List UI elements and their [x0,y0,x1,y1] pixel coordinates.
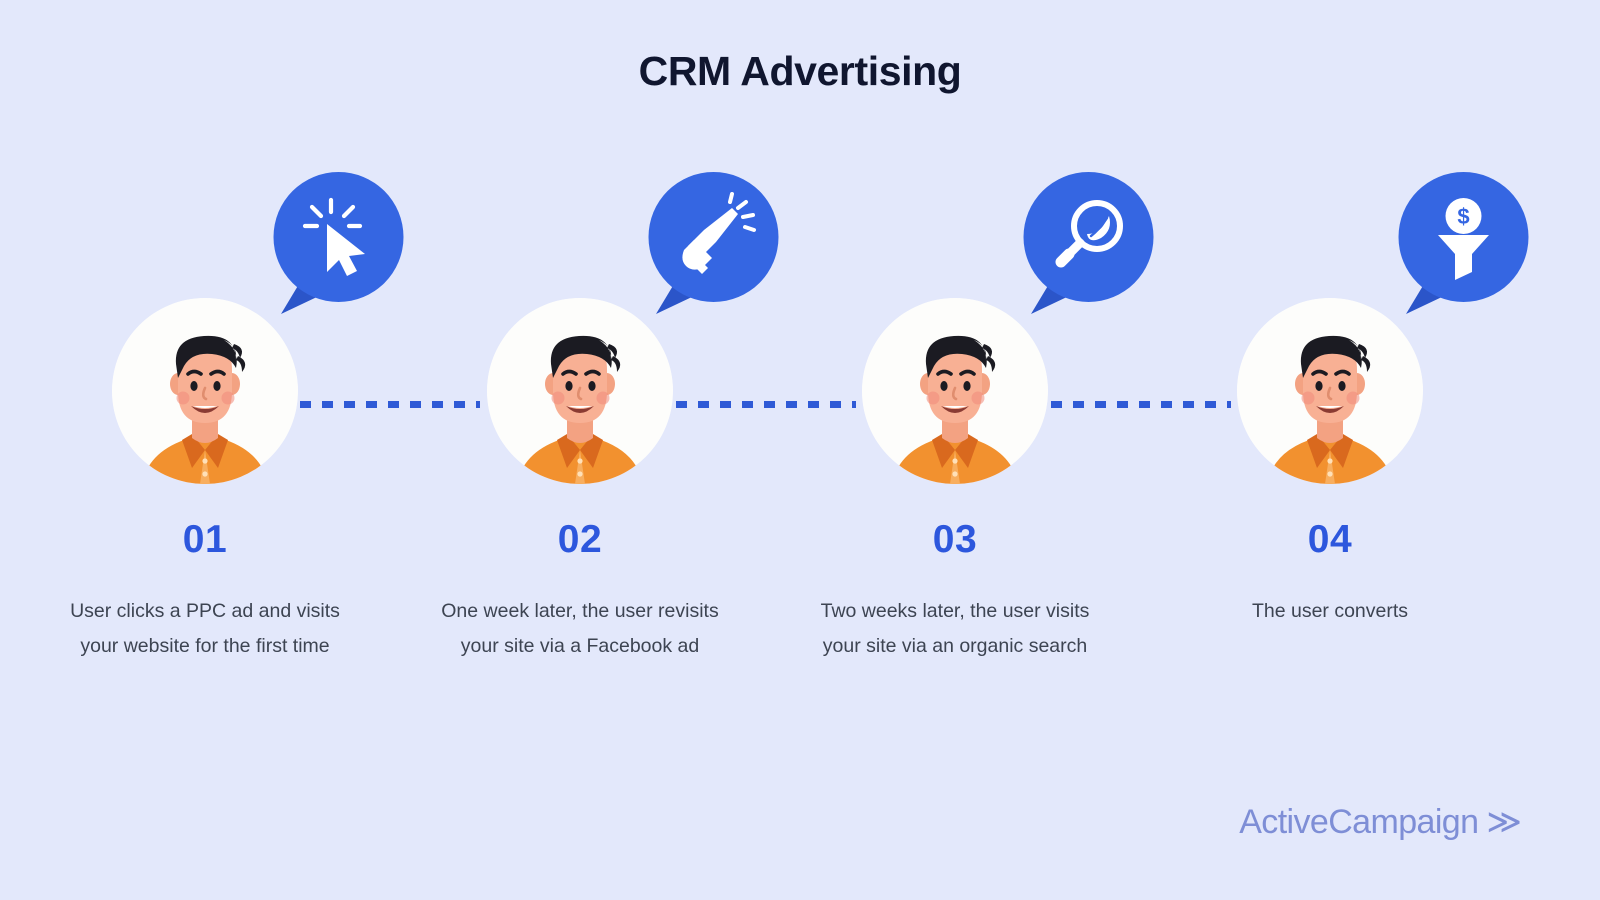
timeline: 01 User clicks a PPC ad and visits your … [0,0,1600,900]
speech-bubble-4: $ [1392,172,1535,315]
avatar-man-icon [112,298,298,484]
speech-bubble-3 [1017,172,1160,315]
avatar-3 [862,298,1048,484]
step-caption-2: One week later, the user revisits your s… [426,594,734,664]
avatar-man-icon [1237,298,1423,484]
avatar-1 [112,298,298,484]
svg-text:$: $ [1457,204,1469,229]
step-number-2: 02 [420,518,740,562]
timeline-step-1: 01 User clicks a PPC ad and visits your … [45,0,365,900]
avatar-man-icon [862,298,1048,484]
step-caption-3: Two weeks later, the user visits your si… [801,594,1109,664]
step-number-3: 03 [795,518,1115,562]
step-caption-1: User clicks a PPC ad and visits your web… [51,594,359,664]
avatar-man-icon [487,298,673,484]
activecampaign-logo: ActiveCampaign ≫ [1239,803,1522,842]
step-number-4: 04 [1170,518,1490,562]
timeline-step-2: 02 One week later, the user revisits you… [420,0,740,900]
avatar-4 [1237,298,1423,484]
crm-advertising-infographic: CRM Advertising [0,0,1600,900]
speech-bubble-1 [267,172,410,315]
step-caption-4: The user converts [1176,594,1484,629]
avatar-2 [487,298,673,484]
timeline-step-4: $ [1170,0,1490,900]
logo-wordmark: ActiveCampaign [1239,803,1478,842]
timeline-step-3: 03 Two weeks later, the user visits your… [795,0,1115,900]
speech-bubble-2 [642,172,785,315]
double-chevron-icon: ≫ [1486,805,1522,839]
step-number-1: 01 [45,518,365,562]
